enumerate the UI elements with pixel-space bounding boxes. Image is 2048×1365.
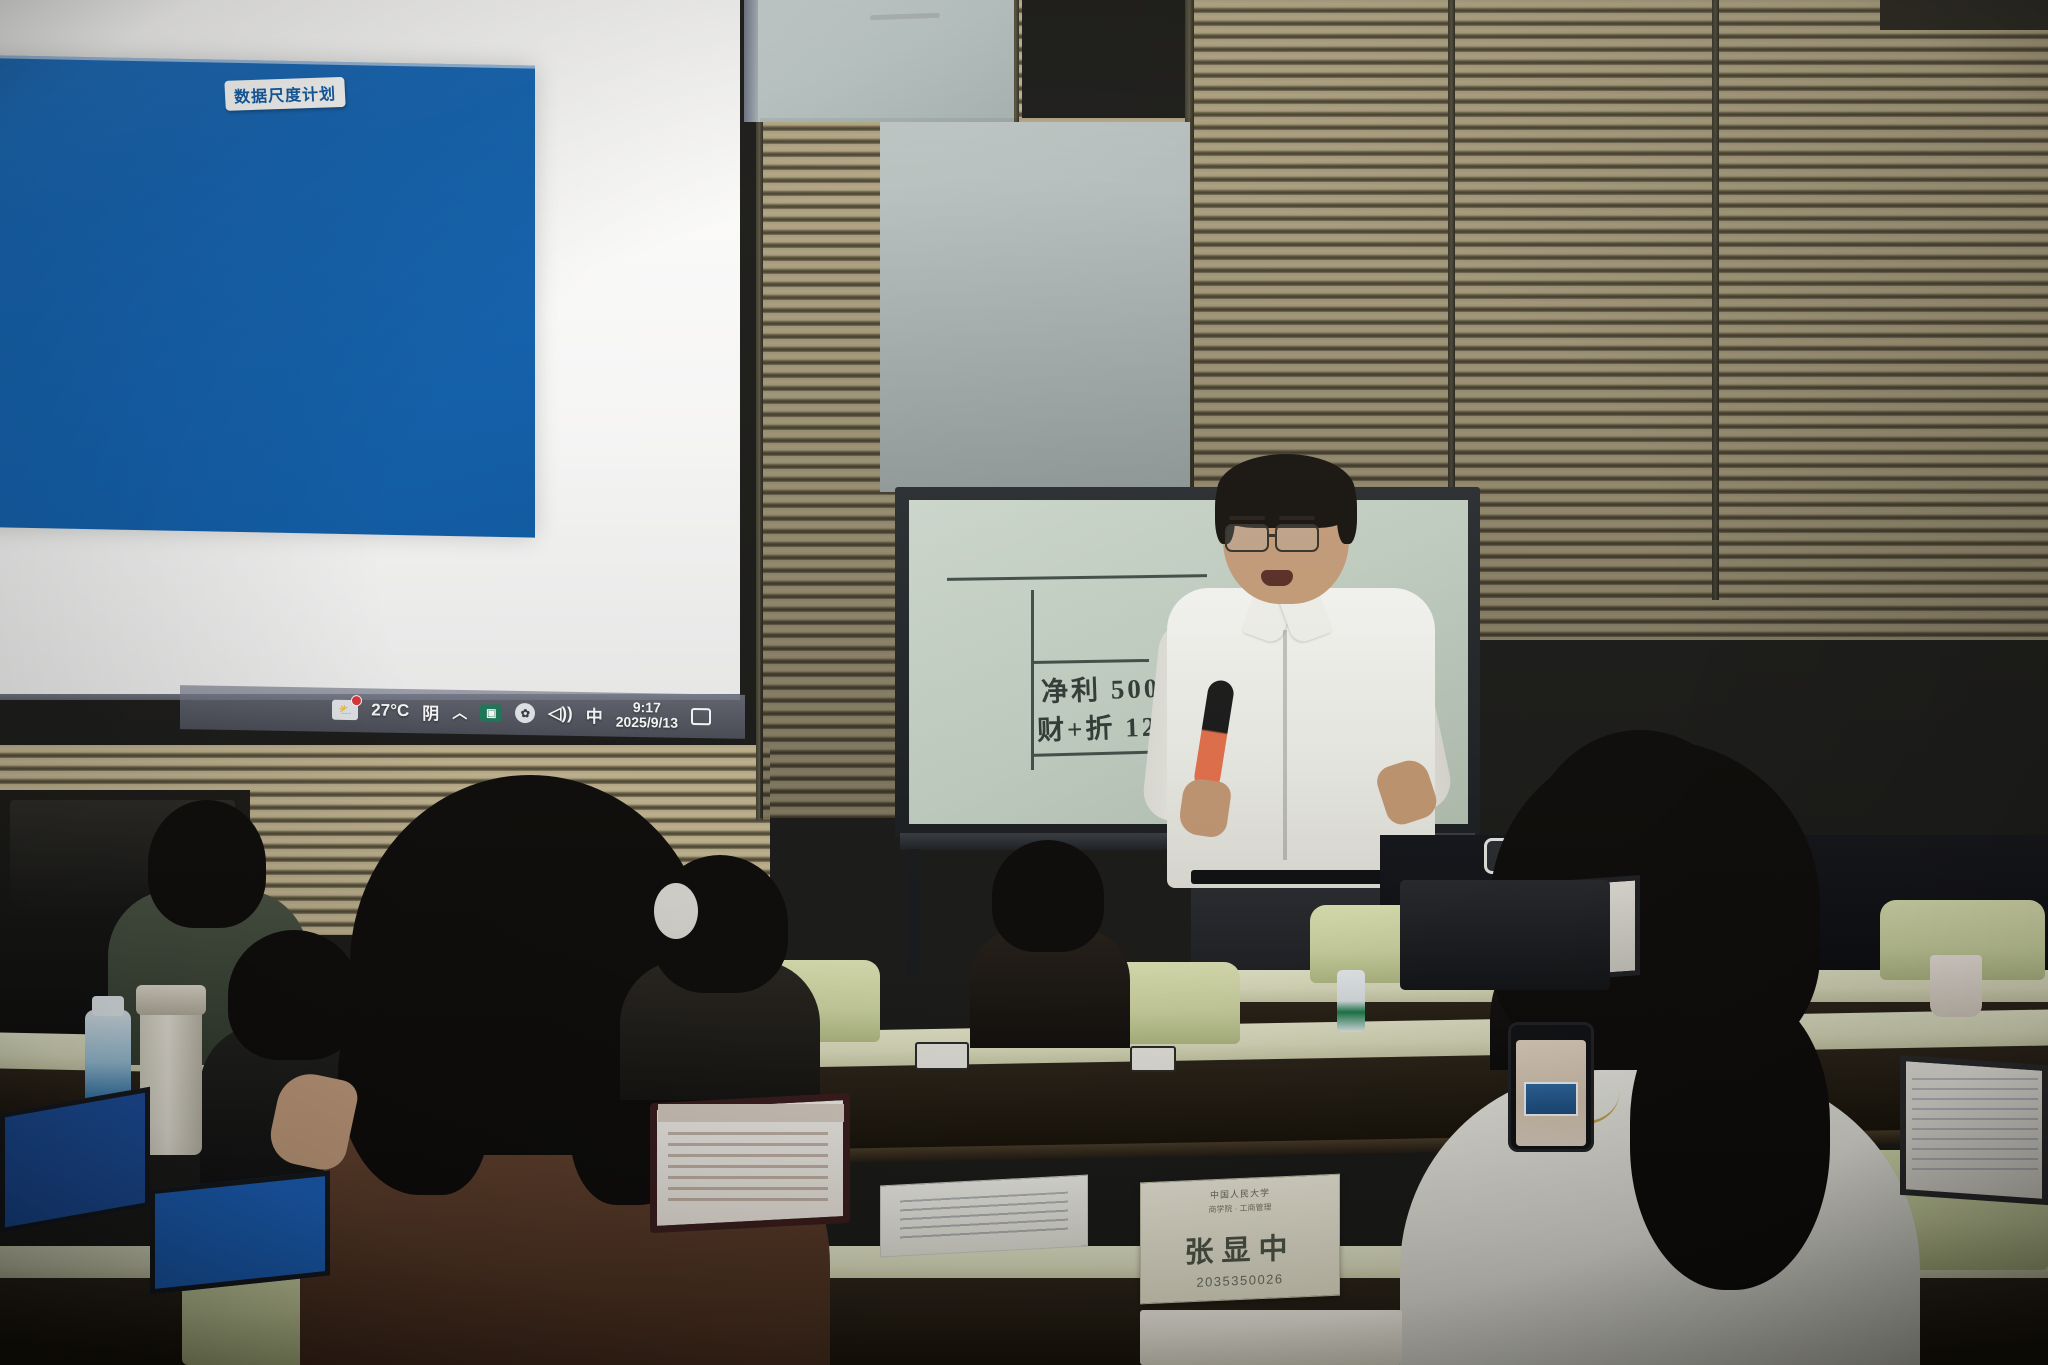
laptop-document-toolbar [658,1104,844,1122]
whiteboard-leg-left [906,849,919,977]
lecture-hall-photo: 数据尺度计划 价值）分析（一） 资效应分析（长江商学院 I 37 ⛅ 27°C … [0,0,2048,1365]
smartphone-screen-image [1524,1082,1578,1116]
student-right-front [1380,740,1940,1365]
whiteboard-ink-hline-mid [1031,659,1149,664]
volume-icon[interactable]: ◁)) [548,703,572,723]
nameplate-student-id: 2035350026 [1141,1269,1339,1293]
small-water-bottle[interactable] [1337,970,1365,1032]
presenter-hair-side-right [1337,482,1357,544]
nameplate-name: 张显中 [1141,1223,1339,1274]
clock-date: 2025/9/13 [616,715,678,731]
slide-subtitle: 资效应分析（长江商学院 [0,224,535,287]
student-right-front-ponytail [1630,990,1830,1290]
presenter-hand-holding-mic [1177,777,1232,839]
lectern-monitor [1400,880,1610,990]
ceiling-dark-strip [1880,0,2048,30]
network-icon[interactable]: ▣ [480,704,502,721]
weather-widget-icon[interactable]: ⛅ [332,700,358,720]
whiteboard-handwriting-line1: 净利 500 [1040,666,1161,709]
water-bottle-cap[interactable] [92,996,124,1016]
notification-icon[interactable] [691,707,711,724]
nameplate: 中国人民大学 商学院 · 工商管理 张显中 2035350026 [1140,1174,1340,1305]
whiteboard-ink-vline [1031,590,1034,770]
wall-seam-5 [756,0,763,820]
book-stack[interactable] [1140,1310,1402,1365]
laptop-blue-screen-2[interactable] [150,1171,330,1295]
laptop-blue-screen[interactable] [0,1087,150,1233]
slide-title: 价值）分析（一） [0,142,535,221]
chevron-up-icon[interactable]: ︿ [452,701,467,722]
headphones-icon [654,883,698,939]
desk-device-small-2[interactable] [1130,1046,1176,1072]
presentation-slide: 数据尺度计划 价值）分析（一） 资效应分析（长江商学院 I 37 [0,46,535,537]
notification-badge [351,695,362,706]
wall-panel-side [744,0,758,122]
paper-document-lines [900,1192,1068,1245]
student-row1-left-hair [148,800,266,928]
presenter-eyebrow-right [1279,516,1315,520]
glasses-bridge-icon [1269,534,1277,537]
taskbar-weather-condition[interactable]: 阴 [422,699,439,724]
thermos-lid[interactable] [136,985,206,1015]
wall-panel-upper-whiteboard [880,122,1190,492]
paper-cup[interactable] [1930,955,1982,1017]
security-icon[interactable]: ✿ [515,703,535,723]
taskbar-clock[interactable]: 9:17 2025/9/13 [616,700,678,730]
slide-badge: 数据尺度计划 [224,77,345,111]
glasses-lens-right-icon [1275,524,1319,552]
taskbar-temperature[interactable]: 27°C [371,700,409,721]
presenter-shirt-placket [1283,630,1287,860]
presenter-eyebrow-left [1229,516,1265,520]
wall-seam-3 [1712,0,1719,600]
projection-screen: 数据尺度计划 价值）分析（一） 资效应分析（长江商学院 I 37 [0,0,740,700]
ime-indicator[interactable]: 中 [586,702,603,727]
student-row2-right [970,840,1130,1040]
student-row2-right-hair [992,840,1104,952]
laptop-document-text-lines [668,1132,828,1202]
laptop-spreadsheet-rows [1912,1078,2038,1178]
student-row2-center [620,855,820,1085]
presenter-belt [1191,870,1401,884]
presenter-mouth [1261,570,1293,586]
windows-taskbar[interactable]: ⛅ 27°C 阴 ︿ ▣ ✿ ◁)) 中 9:17 2025/9/13 [180,685,745,739]
desk-device-small[interactable] [915,1042,969,1070]
glasses-lens-left-icon [1225,524,1269,552]
